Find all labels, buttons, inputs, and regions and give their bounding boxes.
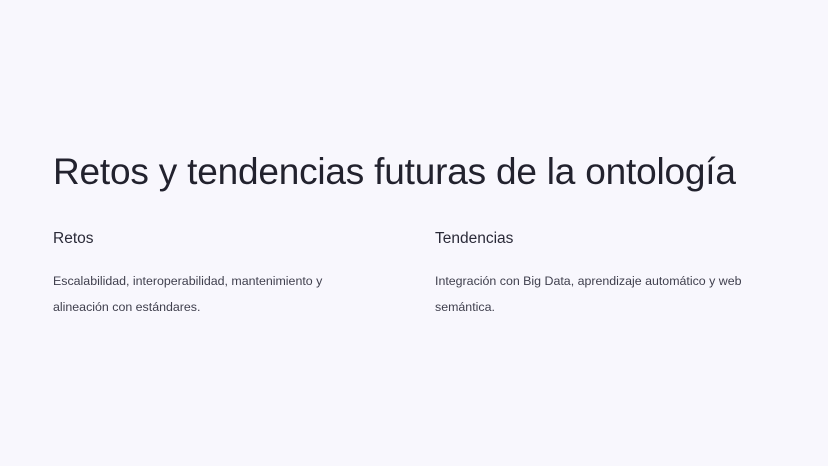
column-tendencias: Tendencias Integración con Big Data, apr… xyxy=(435,228,753,320)
column-retos: Retos Escalabilidad, interoperabilidad, … xyxy=(53,228,371,320)
slide-canvas: Retos y tendencias futuras de la ontolog… xyxy=(0,0,828,466)
column-heading-retos: Retos xyxy=(53,228,371,250)
column-body-retos: Escalabilidad, interoperabilidad, manten… xyxy=(53,268,371,320)
column-heading-tendencias: Tendencias xyxy=(435,228,753,250)
column-body-tendencias: Integración con Big Data, aprendizaje au… xyxy=(435,268,753,320)
content-columns: Retos Escalabilidad, interoperabilidad, … xyxy=(53,228,775,320)
slide-title: Retos y tendencias futuras de la ontolog… xyxy=(53,150,773,194)
